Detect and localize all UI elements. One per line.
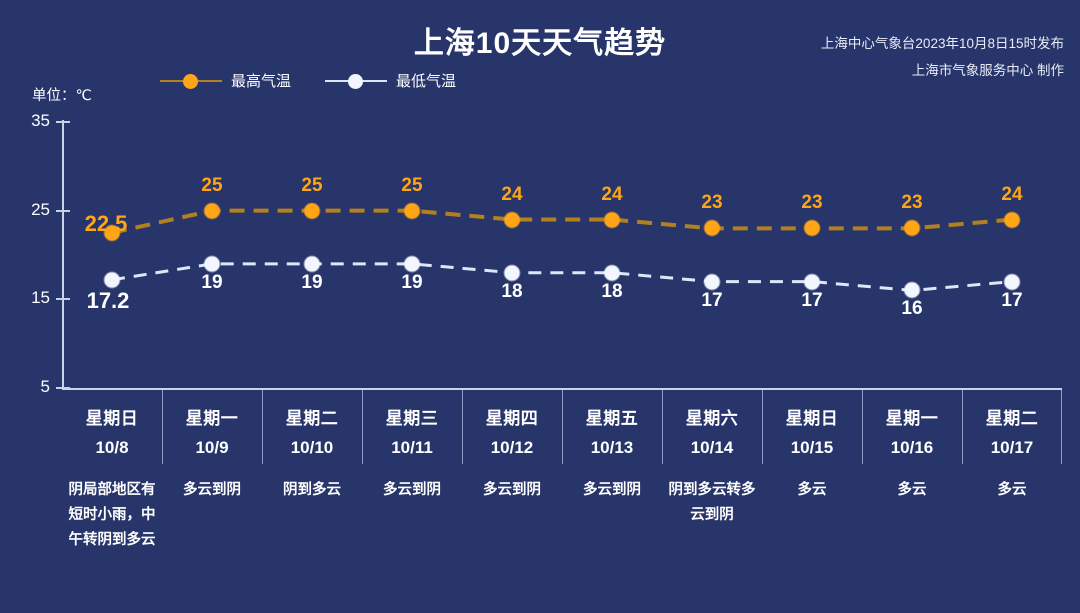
value-label-high: 25	[401, 175, 422, 197]
value-label-high: 25	[201, 175, 222, 197]
value-label-low: 18	[601, 281, 622, 303]
data-point-high[interactable]	[805, 221, 820, 236]
column-separator	[462, 390, 463, 464]
y-axis-line	[62, 120, 64, 390]
value-label-high: 25	[301, 175, 322, 197]
data-point-high[interactable]	[705, 221, 720, 236]
date-label: 10/10	[291, 438, 334, 458]
value-label-low: 16	[901, 298, 922, 320]
data-point-high[interactable]	[205, 203, 220, 218]
data-point-low[interactable]	[1005, 274, 1020, 289]
weekday-label: 星期四	[486, 404, 539, 429]
weekday-label: 星期二	[286, 404, 339, 429]
date-label: 10/9	[195, 438, 228, 458]
day-columns: 星期日10/8阴局部地区有短时小雨，中午转阴到多云星期一10/9多云到阴星期二1…	[62, 390, 1062, 560]
column-separator	[162, 390, 163, 464]
date-label: 10/11	[391, 438, 433, 458]
condition-text: 阴到多云转多云到阴	[664, 478, 760, 528]
y-axis-tick	[56, 121, 70, 123]
day-column[interactable]: 星期一10/9多云到阴	[162, 390, 262, 560]
data-point-low[interactable]	[205, 256, 220, 271]
data-point-high[interactable]	[605, 212, 620, 227]
value-label-high: 22.5	[85, 211, 128, 237]
y-axis-label: 25	[4, 200, 50, 220]
weekday-label: 星期一	[186, 404, 239, 429]
value-label-low: 18	[501, 281, 522, 303]
column-separator	[362, 390, 363, 464]
date-label: 10/13	[591, 438, 634, 458]
weekday-label: 星期日	[86, 404, 139, 429]
data-point-high[interactable]	[905, 221, 920, 236]
data-point-low[interactable]	[705, 274, 720, 289]
condition-text: 多云到阴	[366, 478, 458, 503]
data-point-high[interactable]	[405, 203, 420, 218]
date-label: 10/17	[991, 438, 1034, 458]
condition-text: 阴局部地区有短时小雨，中午转阴到多云	[64, 478, 160, 553]
data-point-high[interactable]	[305, 203, 320, 218]
y-axis-label: 35	[4, 111, 50, 131]
date-label: 10/16	[891, 438, 934, 458]
value-label-high: 24	[601, 184, 622, 206]
value-label-high: 24	[501, 184, 522, 206]
weather-trend-chart: 上海10天天气趋势 上海中心气象台2023年10月8日15时发布 上海市气象服务…	[0, 0, 1080, 613]
value-label-low: 19	[401, 272, 422, 294]
day-column[interactable]: 星期日10/15多云	[762, 390, 862, 560]
date-label: 10/12	[491, 438, 534, 458]
condition-text: 多云	[766, 478, 858, 503]
condition-text: 多云到阴	[566, 478, 658, 503]
condition-text: 多云	[966, 478, 1058, 503]
column-separator	[1061, 390, 1062, 464]
data-point-low[interactable]	[905, 283, 920, 298]
column-separator	[762, 390, 763, 464]
weekday-label: 星期五	[586, 404, 639, 429]
data-point-high[interactable]	[1005, 212, 1020, 227]
day-column[interactable]: 星期五10/13多云到阴	[562, 390, 662, 560]
data-point-low[interactable]	[405, 256, 420, 271]
column-separator	[262, 390, 263, 464]
date-label: 10/15	[791, 438, 834, 458]
y-axis-label: 5	[4, 377, 50, 397]
y-axis-label: 15	[4, 288, 50, 308]
condition-text: 多云到阴	[466, 478, 558, 503]
value-label-low: 17	[801, 290, 822, 312]
value-label-low: 17	[1001, 290, 1022, 312]
value-label-low: 17.2	[87, 288, 130, 314]
weekday-label: 星期二	[986, 404, 1039, 429]
weekday-label: 星期三	[386, 404, 439, 429]
series-line-high	[112, 211, 1012, 233]
data-point-high[interactable]	[505, 212, 520, 227]
condition-text: 阴到多云	[266, 478, 358, 503]
day-column[interactable]: 星期三10/11多云到阴	[362, 390, 462, 560]
condition-text: 多云到阴	[166, 478, 258, 503]
day-column[interactable]: 星期六10/14阴到多云转多云到阴	[662, 390, 762, 560]
data-point-low[interactable]	[505, 265, 520, 280]
y-axis-tick	[56, 210, 70, 212]
column-separator	[662, 390, 663, 464]
condition-text: 多云	[866, 478, 958, 503]
date-label: 10/8	[95, 438, 128, 458]
column-separator	[862, 390, 863, 464]
day-column[interactable]: 星期二10/10阴到多云	[262, 390, 362, 560]
value-label-high: 23	[901, 192, 922, 214]
value-label-low: 17	[701, 290, 722, 312]
data-point-low[interactable]	[105, 272, 120, 287]
y-axis-tick	[56, 298, 70, 300]
weekday-label: 星期日	[786, 404, 839, 429]
value-label-low: 19	[301, 272, 322, 294]
y-axis-tick	[56, 387, 70, 389]
value-label-high: 23	[801, 192, 822, 214]
weekday-label: 星期六	[686, 404, 739, 429]
date-label: 10/14	[691, 438, 734, 458]
day-column[interactable]: 星期四10/12多云到阴	[462, 390, 562, 560]
value-label-low: 19	[201, 272, 222, 294]
column-separator	[962, 390, 963, 464]
day-column[interactable]: 星期一10/16多云	[862, 390, 962, 560]
column-separator	[562, 390, 563, 464]
data-point-low[interactable]	[605, 265, 620, 280]
weekday-label: 星期一	[886, 404, 939, 429]
value-label-high: 23	[701, 192, 722, 214]
day-column[interactable]: 星期二10/17多云	[962, 390, 1062, 560]
data-point-low[interactable]	[805, 274, 820, 289]
data-point-low[interactable]	[305, 256, 320, 271]
series-line-low	[112, 264, 1012, 291]
value-label-high: 24	[1001, 184, 1022, 206]
day-column[interactable]: 星期日10/8阴局部地区有短时小雨，中午转阴到多云	[62, 390, 162, 560]
